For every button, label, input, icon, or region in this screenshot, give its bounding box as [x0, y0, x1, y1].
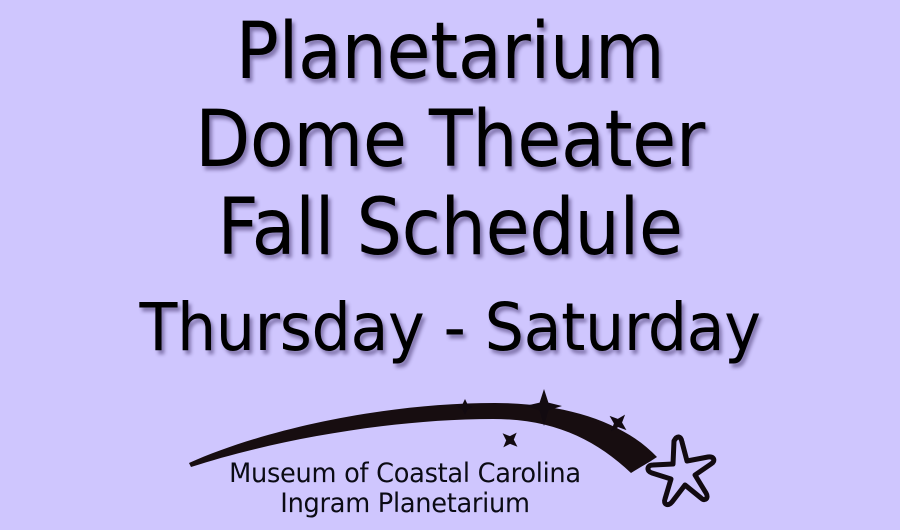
title-line-1: Planetarium [36, 8, 864, 96]
subtitle-days-range: Thursday - Saturday [27, 290, 873, 366]
logo-organization-line-1: Museum of Coastal Carolina [187, 458, 624, 489]
museum-logo: Museum of Coastal Carolina Ingram Planet… [175, 385, 725, 525]
starfish-icon [648, 437, 714, 505]
logo-organization-line-2: Ingram Planetarium [187, 488, 624, 519]
poster-canvas: Planetarium Dome Theater Fall Schedule T… [0, 0, 900, 530]
title-line-2: Dome Theater [36, 96, 864, 184]
title-line-3: Fall Schedule [36, 184, 864, 272]
sparkle-x-lower-icon [496, 426, 524, 454]
